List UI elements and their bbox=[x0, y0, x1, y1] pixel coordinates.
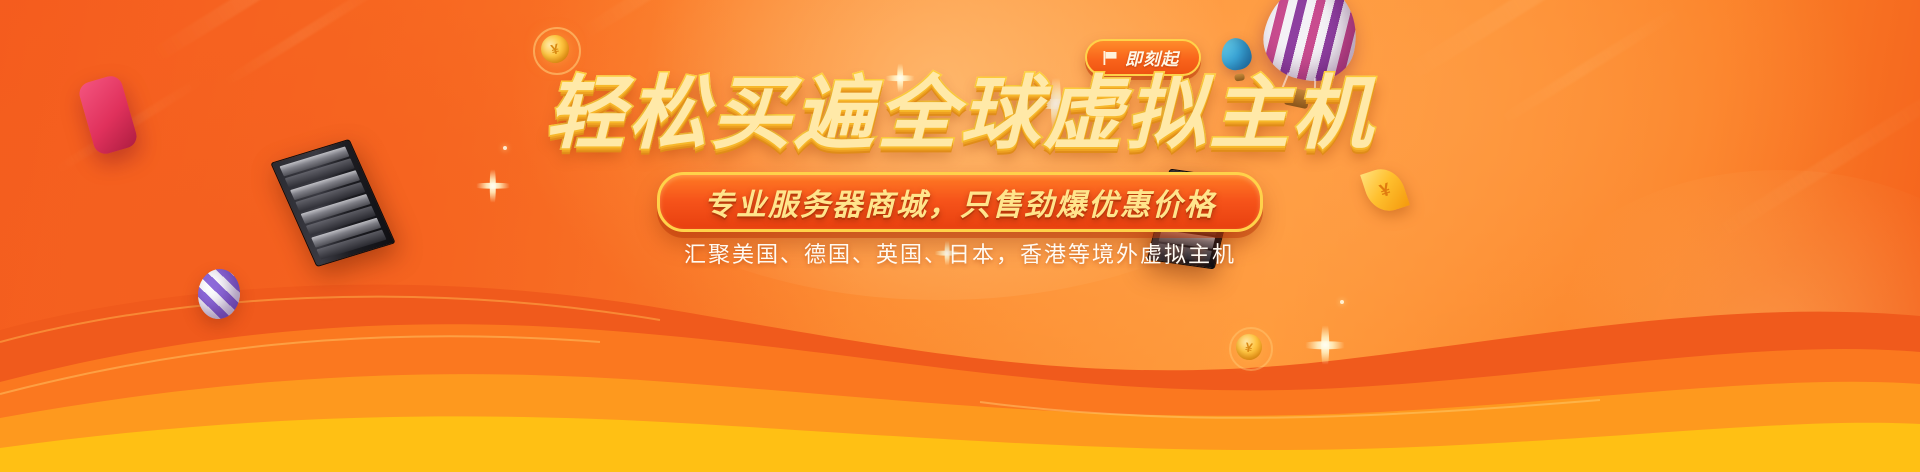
coin-ring bbox=[1229, 327, 1273, 371]
money-leaf-icon: ¥ bbox=[1360, 163, 1410, 217]
light-streak bbox=[576, 0, 804, 42]
description-line: 汇聚美国、德国、英国、日本，香港等境外虚拟主机 bbox=[0, 237, 1920, 269]
sparkle-icon bbox=[470, 163, 516, 209]
headline-text: 轻松买遍全球虚拟主机 bbox=[545, 69, 1375, 158]
subtitle-pill: 专业服务器商城，只售劲爆优惠价格 bbox=[657, 172, 1263, 232]
light-streak bbox=[149, 0, 412, 64]
coin-ring bbox=[533, 27, 581, 75]
page-title: 轻松买遍全球虚拟主机 bbox=[0, 74, 1920, 154]
promo-banner: ¥ ¥ ¥ 即刻起 轻松买遍全球虚拟主机 专业服务器商城，只售劲爆优惠价格 汇聚… bbox=[0, 0, 1920, 472]
light-streak bbox=[1400, 0, 1689, 84]
sparkle-dot bbox=[1340, 300, 1344, 304]
subtitle-pill-label: 专业服务器商城，只售劲爆优惠价格 bbox=[704, 180, 1216, 224]
flag-icon bbox=[1103, 51, 1118, 65]
badge-label: 即刻起 bbox=[1125, 45, 1179, 70]
